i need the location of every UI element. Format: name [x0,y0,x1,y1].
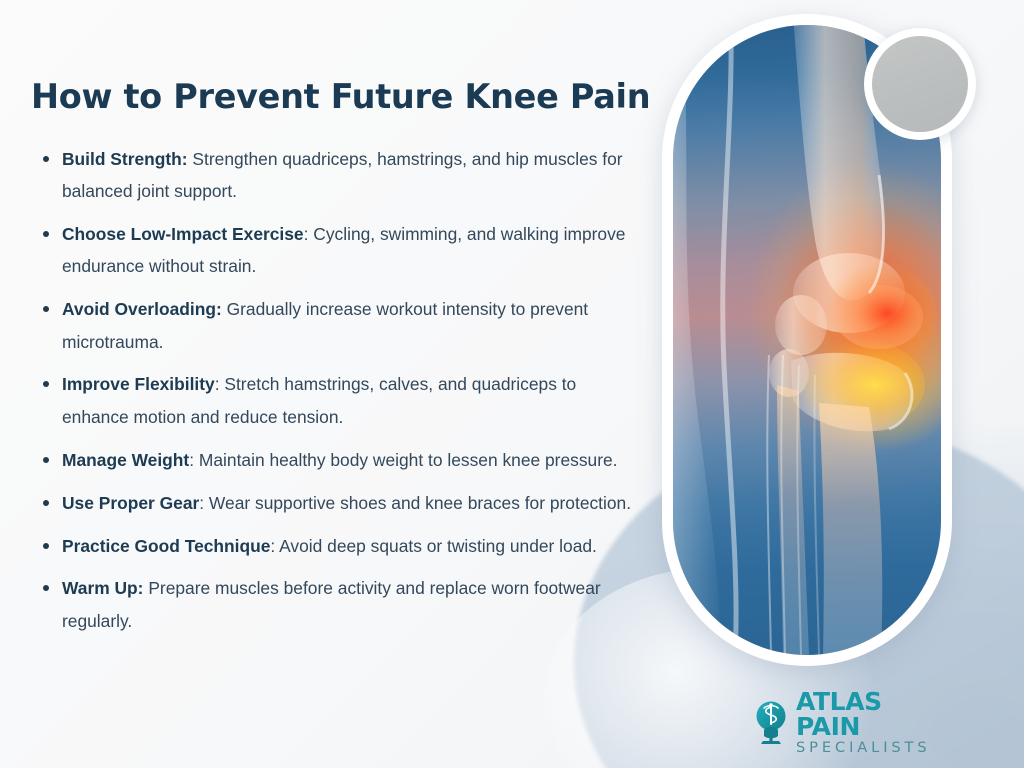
list-item: Improve Flexibility: Stretch hamstrings,… [31,368,642,433]
brand-name-primary: ATLAS PAIN [796,689,931,739]
prevention-tips-list: Build Strength: Strengthen quadriceps, h… [31,143,654,638]
bullet-dot-icon [43,500,49,506]
list-item: Build Strength: Strengthen quadriceps, h… [31,143,642,208]
list-item-lead: Choose Low-Impact Exercise [62,224,304,244]
list-item-lead: Warm Up: [62,578,143,598]
media-column [662,14,952,666]
atlas-caduceus-emblem-icon [751,700,791,744]
list-item-lead: Build Strength: [62,149,188,169]
bullet-dot-icon [43,231,49,237]
brand-name-secondary: SPECIALISTS [796,741,931,756]
bullet-dot-icon [43,306,49,312]
list-item-rest: Prepare muscles before activity and repl… [62,578,601,630]
brand-logo[interactable]: ATLAS PAIN SPECIALISTS [751,694,927,750]
list-item-lead: Manage Weight [62,450,189,470]
list-item: Warm Up: Prepare muscles before activity… [31,572,642,637]
list-item: Avoid Overloading: Gradually increase wo… [31,293,642,358]
bullet-dot-icon [43,381,49,387]
infographic-poster: How to Prevent Future Knee Pain Build St… [0,0,1024,768]
list-item-rest: : Wear supportive shoes and knee braces … [199,493,631,513]
list-item-lead: Use Proper Gear [62,493,199,513]
list-item-lead: Improve Flexibility [62,374,215,394]
page-title: How to Prevent Future Knee Pain [31,78,654,117]
list-item: Manage Weight: Maintain healthy body wei… [31,444,642,476]
list-item: Use Proper Gear: Wear supportive shoes a… [31,487,642,519]
brand-logo-text: ATLAS PAIN SPECIALISTS [796,689,931,756]
callout-inner-disc [872,36,968,132]
circular-callout-placeholder [864,28,976,140]
list-item: Practice Good Technique: Avoid deep squa… [31,530,642,562]
list-item-lead: Avoid Overloading: [62,299,222,319]
list-item-rest: : Maintain healthy body weight to lessen… [189,450,617,470]
bullet-dot-icon [43,156,49,162]
bullet-dot-icon [43,585,49,591]
list-item-lead: Practice Good Technique [62,536,270,556]
list-item-rest: : Avoid deep squats or twisting under lo… [270,536,596,556]
bullet-dot-icon [43,457,49,463]
content-column: How to Prevent Future Knee Pain Build St… [0,0,672,768]
bullet-dot-icon [43,543,49,549]
list-item: Choose Low-Impact Exercise: Cycling, swi… [31,218,642,283]
